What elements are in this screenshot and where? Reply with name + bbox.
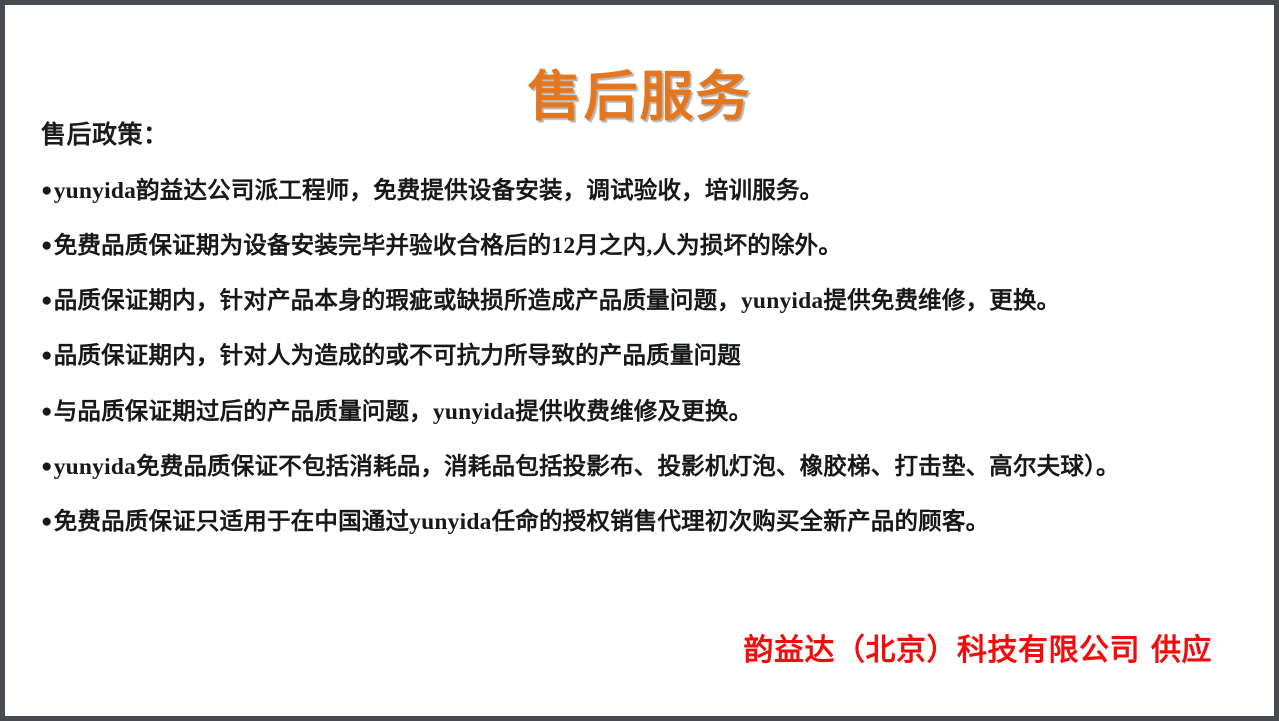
policy-heading: 售后政策： xyxy=(41,121,1254,151)
bullet-dot-icon: ● xyxy=(41,235,53,256)
policy-bullet-text: 免费品质保证期为设备安装完毕并验收合格后的12月之内,人为损坏的除外。 xyxy=(54,233,842,259)
policy-bullet-item: ●yunyida韵益达公司派工程师，免费提供设备安装，调试验收，培训服务。 xyxy=(41,177,1254,206)
slide-canvas: 售后服务 售后政策： ●yunyida韵益达公司派工程师，免费提供设备安装，调试… xyxy=(0,0,1279,721)
bullet-dot-icon: ● xyxy=(41,290,53,311)
policy-bullet-item: ●与品质保证期过后的产品质量问题，yunyida提供收费维修及更换。 xyxy=(41,398,1254,427)
footer-container: 韵益达（北京）科技有限公司 供应 xyxy=(744,634,1212,669)
policy-bullet-item: ●免费品质保证期为设备安装完毕并验收合格后的12月之内,人为损坏的除外。 xyxy=(41,232,1254,261)
bullet-dot-icon: ● xyxy=(41,345,53,366)
company-supplier-line: 韵益达（北京）科技有限公司 供应 xyxy=(744,634,1212,669)
policy-bullet-item: ●yunyida免费品质保证不包括消耗品，消耗品包括投影布、投影机灯泡、橡胶梯、… xyxy=(41,453,1254,482)
bullet-dot-icon: ● xyxy=(41,401,53,422)
page-title: 售后服务 xyxy=(528,69,752,126)
bullet-dot-icon: ● xyxy=(41,180,53,201)
policy-bullet-text: 免费品质保证只适用于在中国通过yunyida任命的授权销售代理初次购买全新产品的… xyxy=(54,509,990,535)
bullet-dot-icon: ● xyxy=(41,511,53,532)
policy-bullet-text: 品质保证期内，针对人为造成的或不可抗力所导致的产品质量问题 xyxy=(54,343,741,369)
policy-bullet-text: 与品质保证期过后的产品质量问题，yunyida提供收费维修及更换。 xyxy=(54,399,753,425)
policy-body: 售后政策： ●yunyida韵益达公司派工程师，免费提供设备安装，调试验收，培训… xyxy=(41,121,1254,537)
policy-bullet-item: ●品质保证期内，针对产品本身的瑕疵或缺损所造成产品质量问题，yunyida提供免… xyxy=(41,287,1254,316)
policy-bullet-text: yunyida韵益达公司派工程师，免费提供设备安装，调试验收，培训服务。 xyxy=(54,178,824,204)
policy-bullet-list: ●yunyida韵益达公司派工程师，免费提供设备安装，调试验收，培训服务。●免费… xyxy=(41,177,1254,537)
policy-bullet-item: ●品质保证期内，针对人为造成的或不可抗力所导致的产品质量问题 xyxy=(41,342,1254,371)
policy-bullet-item: ●免费品质保证只适用于在中国通过yunyida任命的授权销售代理初次购买全新产品… xyxy=(41,508,1254,537)
policy-bullet-text: 品质保证期内，针对产品本身的瑕疵或缺损所造成产品质量问题，yunyida提供免费… xyxy=(54,288,1061,314)
bullet-dot-icon: ● xyxy=(41,456,53,477)
policy-bullet-text: yunyida免费品质保证不包括消耗品，消耗品包括投影布、投影机灯泡、橡胶梯、打… xyxy=(54,454,1120,480)
